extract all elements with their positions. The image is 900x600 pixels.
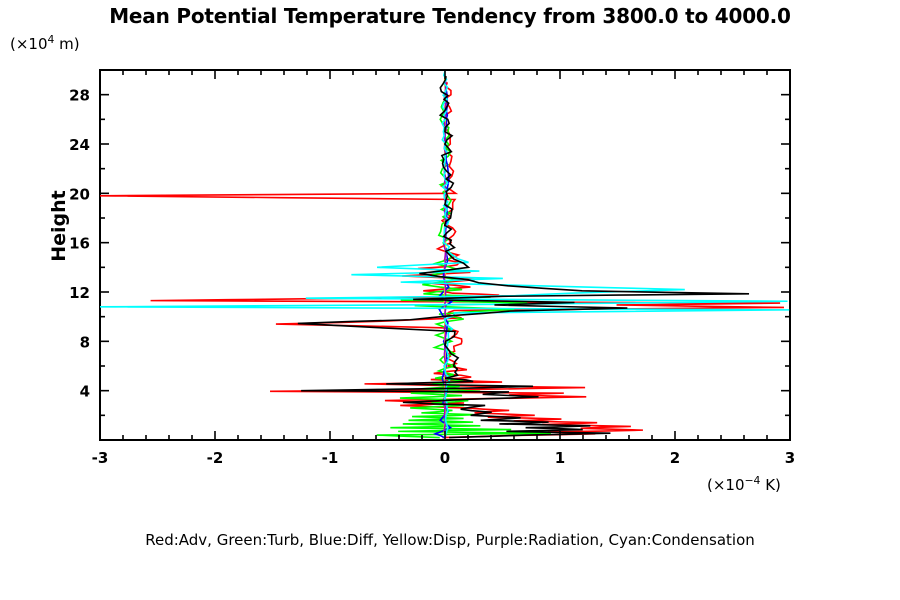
y-tick-label: 4 — [80, 383, 90, 401]
plot-canvas: -3-2-10123481216202428 — [0, 0, 900, 600]
x-tick-label: -2 — [207, 449, 224, 467]
y-tick-label: 20 — [69, 185, 90, 203]
series-legend: Red:Adv, Green:Turb, Blue:Diff, Yellow:D… — [0, 531, 900, 549]
x-tick-label: 3 — [785, 449, 795, 467]
y-tick-label: 28 — [69, 87, 90, 105]
series-group — [96, 71, 790, 437]
x-tick-label: 1 — [555, 449, 565, 467]
y-tick-label: 24 — [69, 136, 90, 154]
x-tick-label: 0 — [440, 449, 450, 467]
x-axis-units-label: (×10−4 K) — [707, 474, 781, 494]
figure-root: Mean Potential Temperature Tendency from… — [0, 0, 900, 600]
x-tick-label: -1 — [322, 449, 339, 467]
y-tick-label: 16 — [69, 235, 90, 253]
y-tick-label: 8 — [80, 333, 90, 351]
y-tick-label: 12 — [69, 284, 90, 302]
x-tick-label: -3 — [92, 449, 109, 467]
x-tick-label: 2 — [670, 449, 680, 467]
